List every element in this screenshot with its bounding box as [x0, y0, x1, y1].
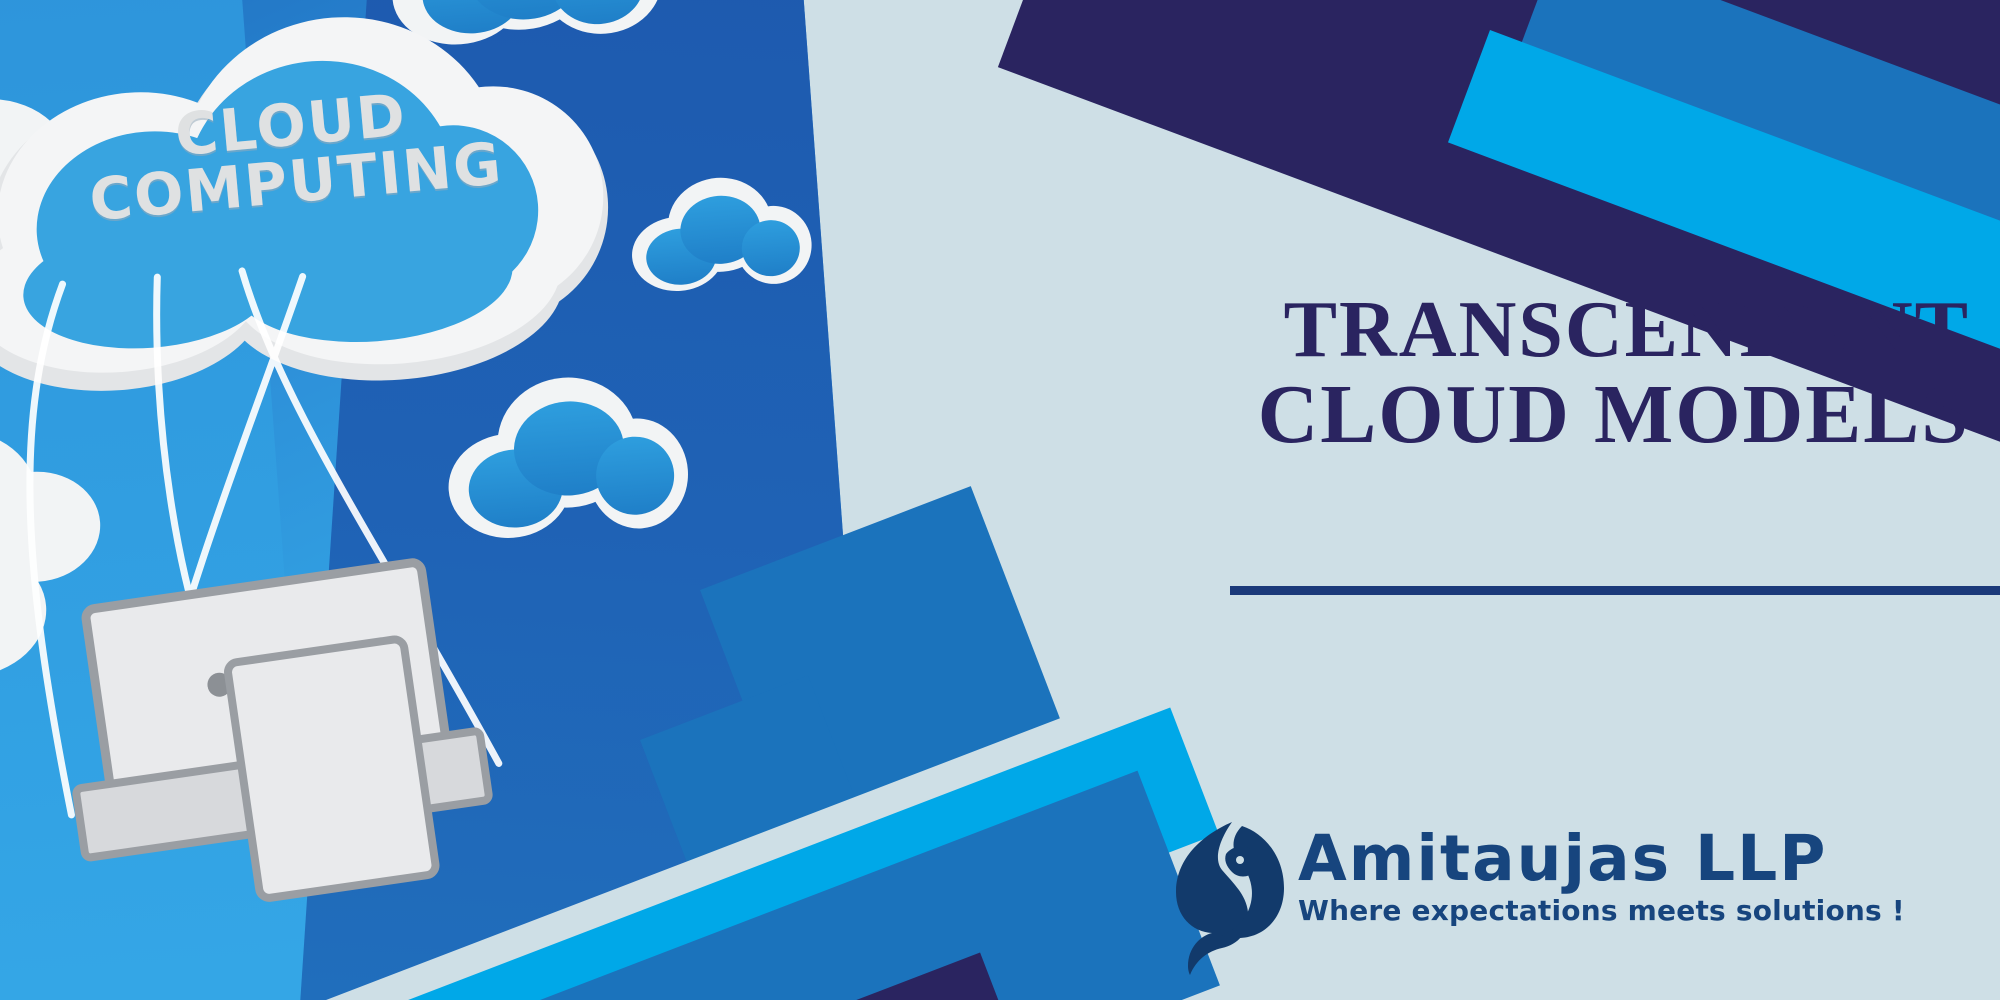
tablet-icon [222, 634, 441, 904]
title-line-1: TRANSCENDENT [1030, 290, 1970, 372]
company-logo: Amitaujas LLP Where expectations meets s… [1170, 820, 1970, 980]
title-divider [1230, 586, 2000, 595]
title-line-2: CLOUD MODELS [1030, 372, 1970, 458]
content-area: TRANSCENDENT CLOUD MODELS Amitaujas LLP … [1030, 0, 2000, 1000]
peacock-bird-icon [1170, 820, 1290, 975]
company-name: Amitaujas LLP [1298, 826, 1958, 892]
company-tagline: Where expectations meets solutions ! [1298, 894, 1958, 927]
page-title: TRANSCENDENT CLOUD MODELS [1030, 290, 1970, 457]
banner-canvas: CLOUD COMPUTING [0, 0, 2000, 1000]
logo-text-block: Amitaujas LLP Where expectations meets s… [1298, 826, 1958, 927]
